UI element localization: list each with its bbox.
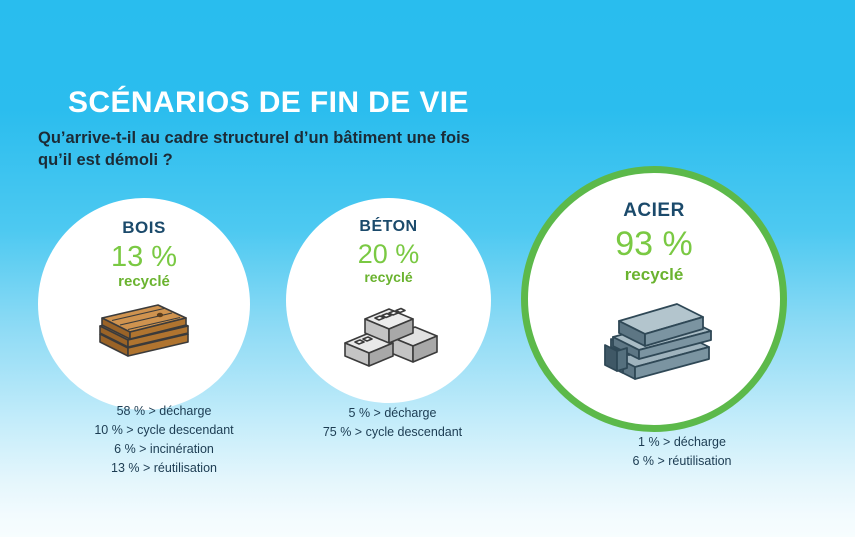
wood-planks-icon [92, 294, 196, 369]
material-percent-bois: 13 % [111, 242, 177, 272]
material-recycled-label-beton: recyclé [364, 269, 412, 285]
material-card-acier[interactable]: ACIER 93 % recyclé [521, 166, 787, 432]
material-name-acier: ACIER [623, 200, 685, 222]
breakdown-item: 1 % > décharge [592, 433, 772, 452]
material-recycled-label-bois: recyclé [118, 273, 170, 290]
page-title: SCÉNARIOS DE FIN DE VIE [68, 86, 469, 120]
breakdown-item: 6 % > réutilisation [592, 452, 772, 471]
breakdown-item: 13 % > réutilisation [64, 459, 264, 478]
material-card-content-beton: BÉTON 20 % recyclé [286, 198, 491, 403]
breakdown-item: 10 % > cycle descendant [64, 421, 264, 440]
page-subtitle: Qu’arrive-t-il au cadre structurel d’un … [38, 128, 508, 172]
breakdown-item: 58 % > décharge [64, 402, 264, 421]
steel-beams-icon [589, 289, 719, 392]
material-name-beton: BÉTON [359, 218, 417, 236]
breakdown-list-acier: 1 % > décharge 6 % > réutilisation [592, 433, 772, 471]
material-card-bois[interactable]: BOIS 13 % recyclé [38, 198, 250, 410]
concrete-blocks-icon [339, 289, 439, 372]
breakdown-list-beton: 5 % > décharge 75 % > cycle descendant [300, 404, 485, 442]
breakdown-item: 75 % > cycle descendant [300, 423, 485, 442]
material-percent-acier: 93 % [615, 227, 693, 263]
material-card-content-bois: BOIS 13 % recyclé [38, 198, 250, 410]
infographic-canvas: SCÉNARIOS DE FIN DE VIE Qu’arrive-t-il a… [0, 0, 855, 537]
breakdown-list-bois: 58 % > décharge 10 % > cycle descendant … [64, 402, 264, 478]
breakdown-item: 6 % > incinération [64, 440, 264, 459]
material-name-bois: BOIS [122, 218, 166, 238]
material-card-content-acier: ACIER 93 % recyclé [528, 173, 780, 425]
breakdown-item: 5 % > décharge [300, 404, 485, 423]
material-percent-beton: 20 % [358, 240, 420, 268]
material-recycled-label-acier: recyclé [625, 265, 684, 285]
material-card-beton[interactable]: BÉTON 20 % recyclé [286, 198, 491, 403]
